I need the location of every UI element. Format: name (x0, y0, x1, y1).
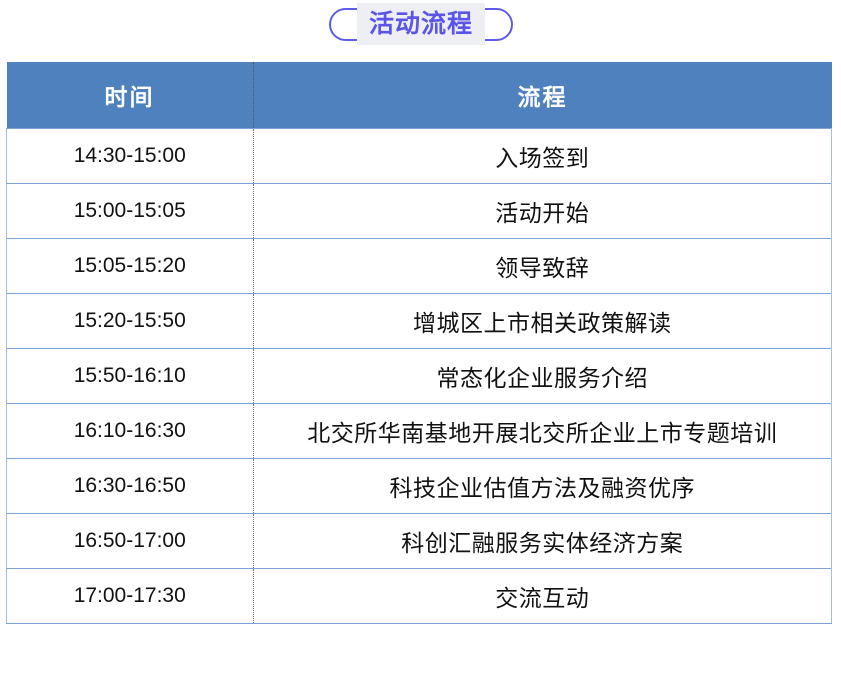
column-header-flow: 流程 (253, 62, 832, 129)
cell-time: 16:10-16:30 (7, 404, 254, 459)
cell-time: 17:00-17:30 (7, 569, 254, 624)
table-body: 14:30-15:00入场签到15:00-15:05活动开始15:05-15:2… (7, 129, 832, 624)
table-header-row: 时间 流程 (7, 62, 832, 129)
cell-flow: 领导致辞 (253, 239, 832, 294)
table-row: 15:50-16:10常态化企业服务介绍 (7, 349, 832, 404)
title-area: 活动流程 (0, 0, 841, 52)
cell-flow: 交流互动 (253, 569, 832, 624)
cell-flow: 科创汇融服务实体经济方案 (253, 514, 832, 569)
table-row: 16:10-16:30北交所华南基地开展北交所企业上市专题培训 (7, 404, 832, 459)
page-title: 活动流程 (369, 12, 473, 37)
column-header-time: 时间 (7, 62, 254, 129)
cell-time: 16:50-17:00 (7, 514, 254, 569)
cell-time: 14:30-15:00 (7, 129, 254, 184)
table-row: 17:00-17:30交流互动 (7, 569, 832, 624)
table-row: 16:50-17:00科创汇融服务实体经济方案 (7, 514, 832, 569)
table-row: 15:20-15:50增城区上市相关政策解读 (7, 294, 832, 349)
table-row: 15:00-15:05活动开始 (7, 184, 832, 239)
table-row: 15:05-15:20领导致辞 (7, 239, 832, 294)
cell-flow: 入场签到 (253, 129, 832, 184)
cell-time: 15:00-15:05 (7, 184, 254, 239)
table-row: 14:30-15:00入场签到 (7, 129, 832, 184)
schedule-table-container: 时间 流程 14:30-15:00入场签到15:00-15:05活动开始15:0… (6, 62, 830, 624)
table-row: 16:30-16:50科技企业估值方法及融资优序 (7, 459, 832, 514)
cell-time: 15:50-16:10 (7, 349, 254, 404)
cell-time: 16:30-16:50 (7, 459, 254, 514)
cell-time: 15:20-15:50 (7, 294, 254, 349)
cell-flow: 常态化企业服务介绍 (253, 349, 832, 404)
cell-time: 15:05-15:20 (7, 239, 254, 294)
section-title-badge: 活动流程 (329, 8, 513, 41)
cell-flow: 增城区上市相关政策解读 (253, 294, 832, 349)
schedule-table: 时间 流程 14:30-15:00入场签到15:00-15:05活动开始15:0… (6, 62, 832, 624)
badge-panel: 活动流程 (357, 3, 485, 45)
cell-flow: 科技企业估值方法及融资优序 (253, 459, 832, 514)
cell-flow: 北交所华南基地开展北交所企业上市专题培训 (253, 404, 832, 459)
cell-flow: 活动开始 (253, 184, 832, 239)
table-header: 时间 流程 (7, 62, 832, 129)
